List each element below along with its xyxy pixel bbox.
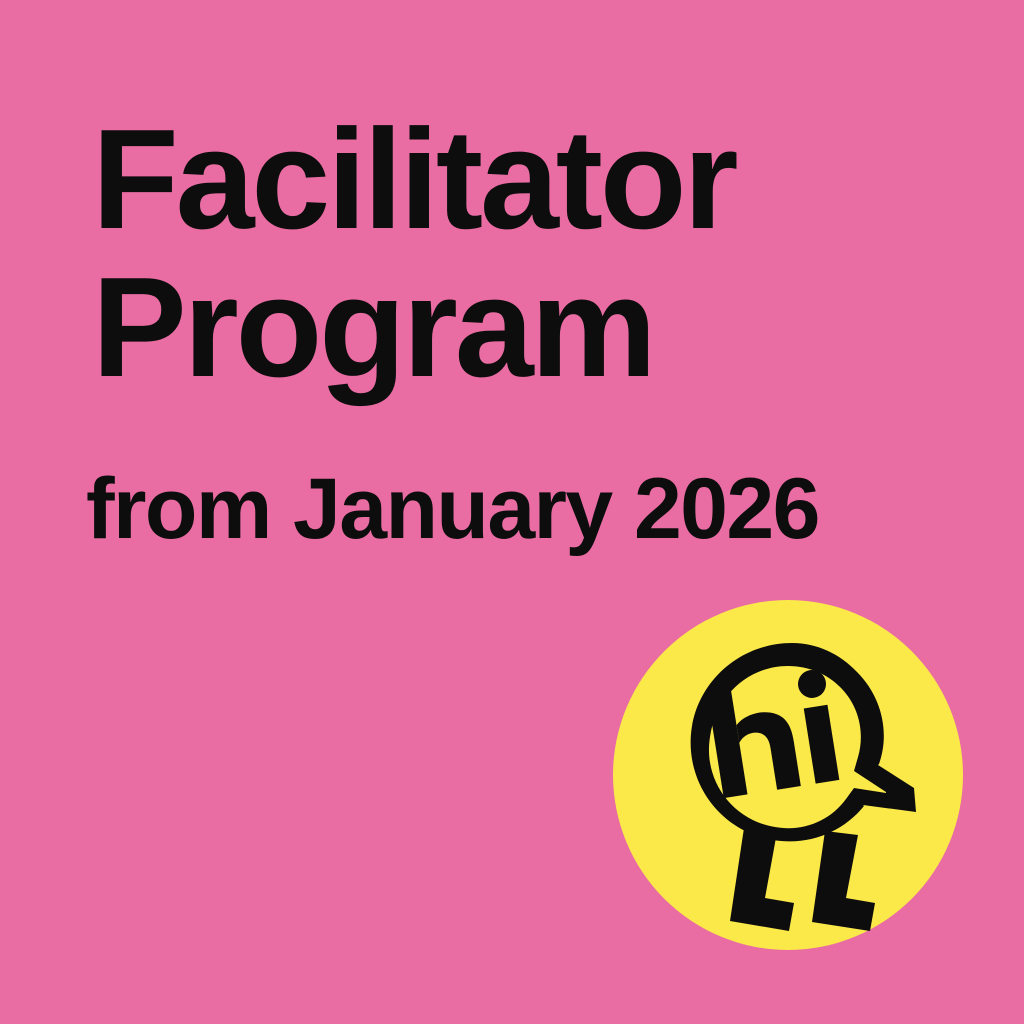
hi-speech-bubble-icon bbox=[613, 600, 963, 950]
logo-badge bbox=[613, 600, 963, 950]
subheadline: from January 2026 bbox=[86, 463, 819, 555]
headline-line-2: Program bbox=[92, 254, 952, 402]
logo-leg-left bbox=[730, 828, 794, 931]
poster-canvas: Facilitator Program from January 2026 bbox=[0, 0, 1024, 1024]
headline-line-1: Facilitator bbox=[92, 106, 952, 254]
logo-leg-right bbox=[812, 831, 875, 931]
page-title: Facilitator Program bbox=[92, 106, 952, 402]
